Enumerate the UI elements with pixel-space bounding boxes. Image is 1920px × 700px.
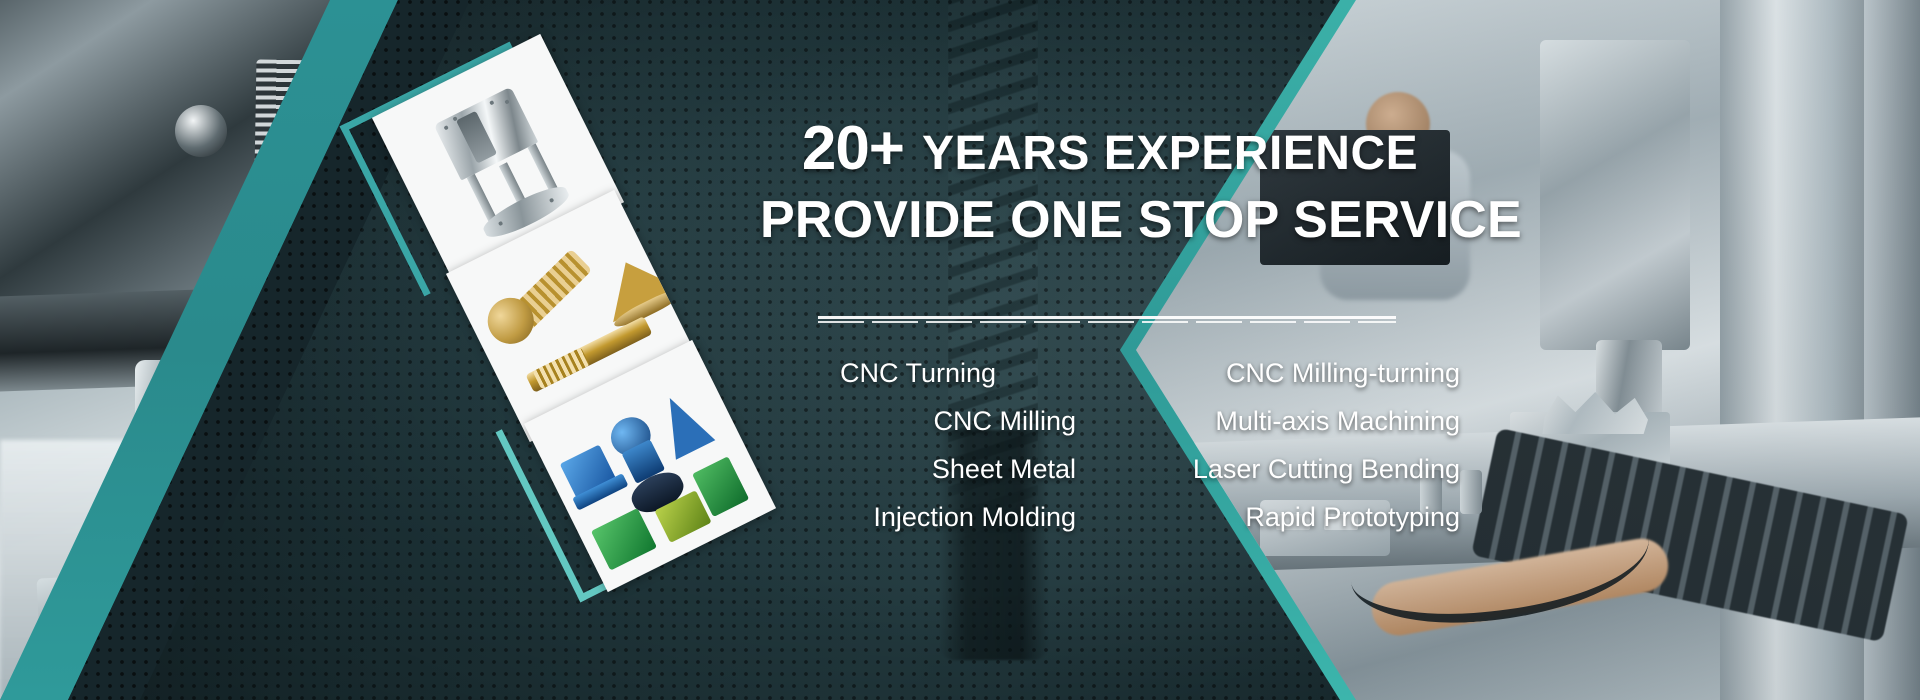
service-item: Sheet Metal	[760, 456, 1082, 483]
service-item: Rapid Prototyping	[1082, 504, 1460, 531]
promo-banner: 20+ YEARS EXPERIENCE PROVIDE ONE STOP SE…	[0, 0, 1920, 700]
service-item: CNC Milling-turning	[1082, 360, 1460, 387]
headline-line-1: 20+ YEARS EXPERIENCE	[760, 118, 1460, 180]
service-item: CNC Turning	[760, 360, 1082, 387]
headline-block: 20+ YEARS EXPERIENCE PROVIDE ONE STOP SE…	[760, 118, 1460, 246]
service-row: CNC Turning CNC Milling-turning	[760, 360, 1460, 387]
years-number: 20+	[802, 118, 904, 180]
years-experience-label: YEARS EXPERIENCE	[922, 130, 1418, 178]
service-row: CNC Milling Multi-axis Machining	[760, 408, 1460, 435]
service-item: Multi-axis Machining	[1082, 408, 1460, 435]
headline-divider	[818, 316, 1396, 319]
service-item: CNC Milling	[760, 408, 1082, 435]
service-item: Injection Molding	[760, 504, 1082, 531]
headline-line-2: PROVIDE ONE STOP SERVICE	[760, 194, 1460, 246]
service-item: Laser Cutting Bending	[1082, 456, 1460, 483]
service-row: Sheet Metal Laser Cutting Bending	[760, 456, 1460, 483]
service-row: Injection Molding Rapid Prototyping	[760, 504, 1460, 531]
services-list: CNC Turning CNC Milling-turning CNC Mill…	[760, 360, 1460, 552]
